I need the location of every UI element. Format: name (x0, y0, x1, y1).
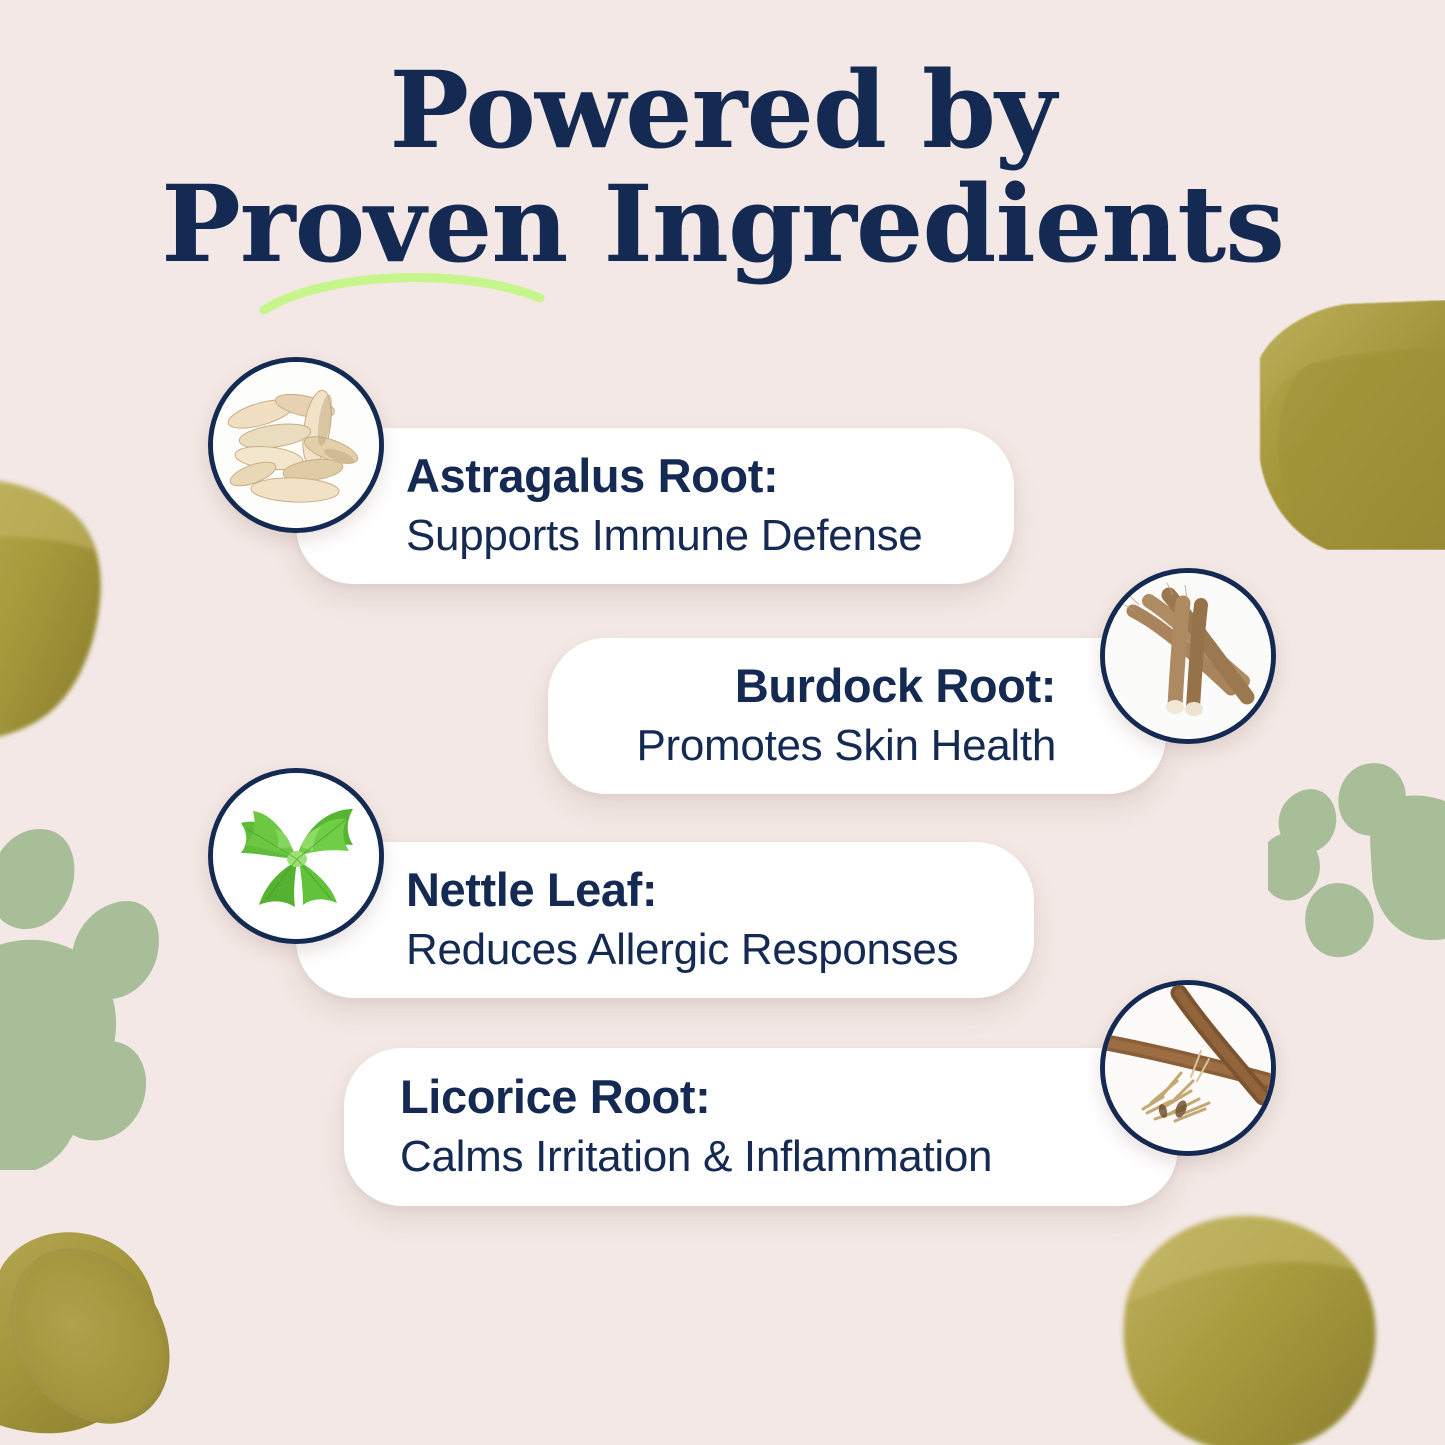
ingredient-title: Burdock Root: (735, 660, 1056, 713)
burdock-root-sticks-image (1100, 568, 1276, 744)
infographic-canvas: Powered by Proven Ingredients Astragalus… (0, 0, 1445, 1445)
ingredient-card-burdock[interactable]: Burdock Root: Promotes Skin Health (548, 638, 1166, 794)
ingredient-title: Nettle Leaf: (406, 864, 657, 917)
ingredient-card-licorice[interactable]: Licorice Root: Calms Irritation & Inflam… (344, 1048, 1178, 1206)
ingredient-card-astragalus[interactable]: Astragalus Root: Supports Immune Defense (296, 428, 1014, 584)
ingredient-description: Supports Immune Defense (406, 510, 922, 562)
nettle-leaf-image (208, 768, 384, 944)
ingredient-card-nettle[interactable]: Nettle Leaf: Reduces Allergic Responses (296, 842, 1034, 998)
ingredient-title: Astragalus Root: (406, 450, 778, 503)
licorice-root-sticks-image (1100, 980, 1276, 1156)
ingredient-description: Calms Irritation & Inflammation (400, 1131, 992, 1183)
astragalus-root-slices-image (208, 357, 384, 533)
ingredient-description: Reduces Allergic Responses (406, 924, 958, 976)
ingredient-description: Promotes Skin Health (636, 720, 1056, 772)
ingredient-title: Licorice Root: (400, 1071, 710, 1124)
ingredient-list: Astragalus Root: Supports Immune Defense (0, 0, 1445, 1445)
